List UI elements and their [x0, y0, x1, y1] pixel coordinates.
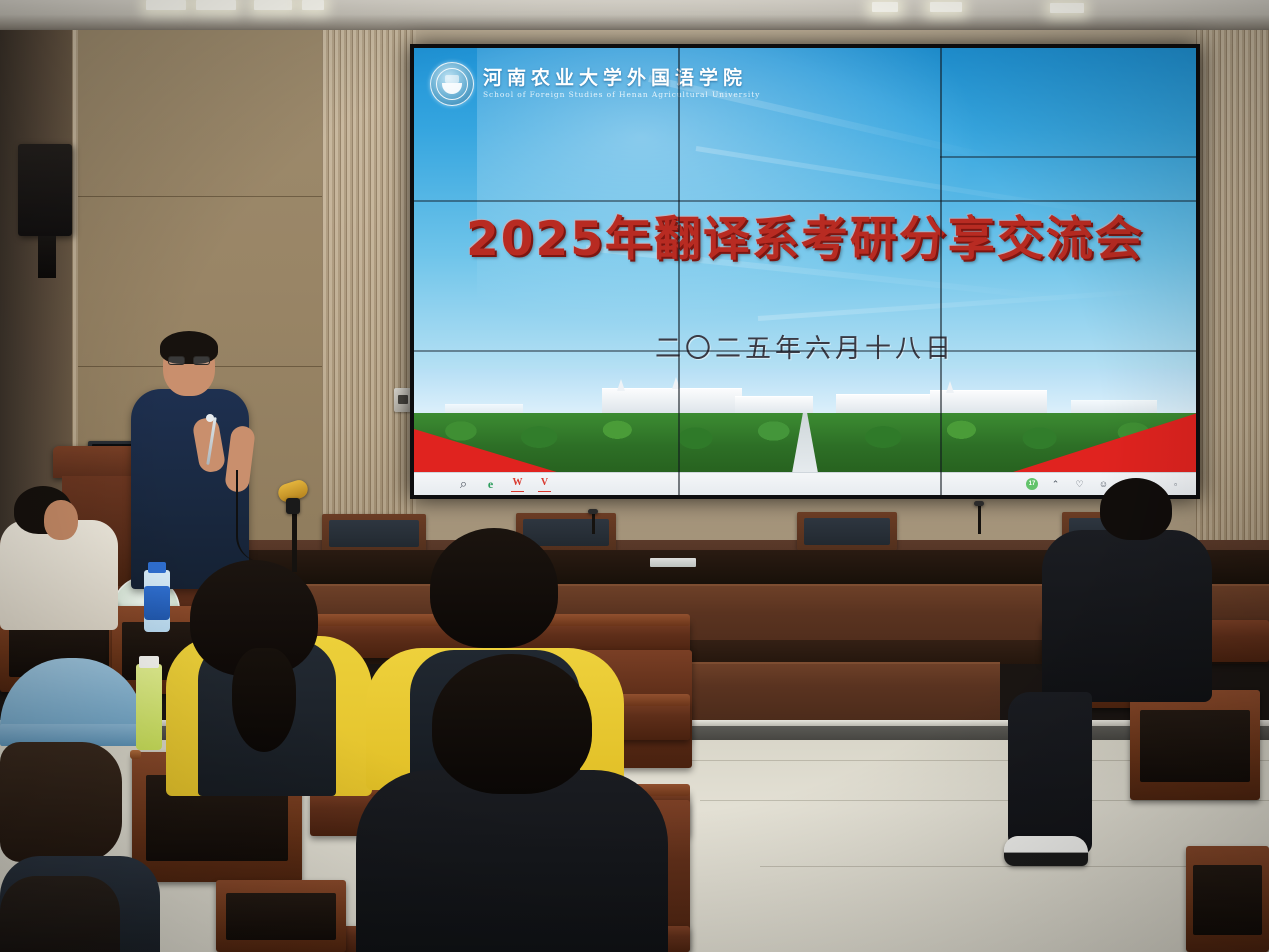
notification-icon[interactable]: ▫ [1169, 478, 1182, 491]
stage-nameplate [650, 558, 696, 567]
audience-chair [1186, 846, 1269, 952]
chevron-up-icon[interactable]: ⌃ [1049, 478, 1062, 491]
ceiling-light [302, 0, 324, 10]
video-wall-bezel [940, 156, 1196, 158]
windows-start-icon[interactable] [430, 478, 443, 491]
wall-slat-panel-mid [322, 30, 416, 590]
taskbar-left-group: ⌕ e W V [414, 477, 551, 492]
wps-writer-icon[interactable]: W [511, 477, 524, 492]
audience-ponytail-hair [232, 648, 296, 752]
led-video-wall[interactable]: 河南农业大学外国语学院 School of Foreign Studies of… [410, 44, 1200, 499]
floor-mic-stand [292, 510, 297, 572]
laser-pointer-tip [206, 414, 214, 422]
microphone-head [588, 509, 598, 514]
wall-speaker [18, 144, 72, 236]
water-bottle-cap [148, 562, 166, 573]
microphone-head [974, 501, 984, 506]
audience-right-black [1042, 530, 1212, 702]
school-name-en: School of Foreign Studies of Henan Agric… [483, 90, 760, 99]
university-seal-icon [430, 62, 474, 106]
stage-front-panel [660, 662, 1000, 726]
video-wall-bezel [678, 48, 680, 495]
seal-inner-mark [445, 75, 459, 83]
floor-tile-line [700, 800, 1269, 801]
audience-hair [430, 528, 558, 648]
ceiling-light [930, 2, 962, 12]
ceiling-light [196, 0, 236, 10]
stage-chair [322, 514, 426, 552]
presentation-slide: 河南农业大学外国语学院 School of Foreign Studies of… [414, 48, 1196, 495]
ceiling-light [872, 2, 898, 12]
panel-seam [78, 196, 322, 197]
security-shield-icon[interactable]: 17 [1026, 478, 1038, 490]
ceiling-light [254, 0, 292, 10]
water-bottle-blue-label [144, 586, 170, 620]
microphone-clip [286, 498, 300, 514]
search-icon[interactable]: ⌕ [457, 478, 470, 491]
speaker-bracket [38, 236, 56, 278]
video-wall-bezel [414, 350, 1196, 352]
audience-chair [216, 880, 346, 952]
video-wall-bezel [940, 48, 942, 495]
audience-hair [432, 654, 592, 794]
video-wall-bezel [414, 200, 1196, 202]
audience-left-bottom [0, 876, 120, 952]
edge-browser-icon[interactable]: e [484, 478, 497, 491]
audience-chair [1130, 690, 1260, 800]
ceiling-light [146, 0, 186, 10]
campus-spire [946, 381, 954, 393]
desk-microphone [978, 504, 981, 534]
chair-knob [130, 750, 141, 759]
audience-head [44, 500, 78, 540]
water-bottle-green [136, 664, 162, 750]
audience-hair [1100, 478, 1172, 540]
audience-sneaker [1004, 836, 1088, 866]
audience-leg [1008, 692, 1092, 854]
cloud-sync-icon[interactable]: ♡ [1073, 478, 1086, 491]
campus-spire [617, 379, 625, 391]
campus-panorama-image [414, 369, 1196, 473]
mic-cable [236, 470, 262, 562]
school-name-cn: 河南农业大学外国语学院 [483, 69, 760, 89]
stage-chair [797, 512, 897, 550]
ceiling-light [1050, 3, 1084, 13]
lecture-hall-photo: 河南农业大学外国语学院 School of Foreign Studies of… [0, 0, 1269, 952]
audience-dark-suit [356, 770, 668, 952]
slide-date: 二〇二五年六月十八日 [414, 328, 1196, 365]
audience-hair [0, 742, 122, 862]
water-bottle-cap [139, 656, 159, 668]
slide-main-title: 2025年翻译系考研分享交流会 [414, 200, 1196, 269]
windows-taskbar[interactable]: ⌕ e W V 17 ⌃ ♡ ☺ ◗ ◁ ▫ [414, 472, 1196, 495]
slide-header: 河南农业大学外国语学院 School of Foreign Studies of… [430, 62, 760, 106]
presenter-glasses [168, 356, 210, 365]
wall-slat-panel-right [1196, 30, 1269, 590]
wps-presentation-icon[interactable]: V [538, 477, 551, 492]
desk-microphone [592, 512, 595, 534]
